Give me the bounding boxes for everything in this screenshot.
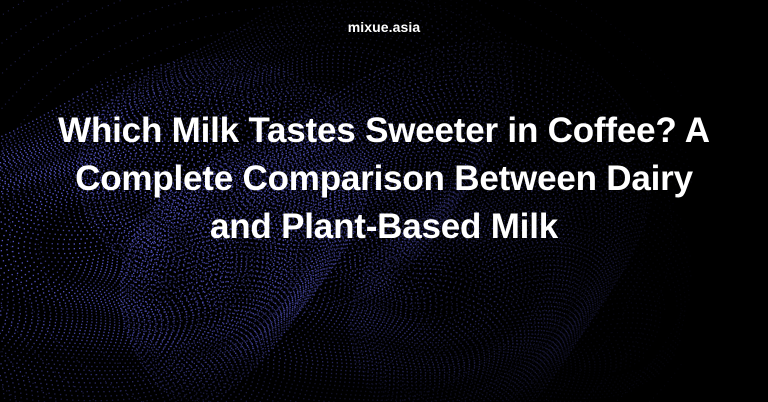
page-title: Which Milk Tastes Sweeter in Coffee? A C…	[34, 107, 734, 251]
page-title-line-1: Which Milk Tastes Sweeter in Coffee? A	[34, 107, 734, 155]
site-name: mixue.asia	[348, 19, 421, 35]
page-title-line-2: Complete Comparison Between Dairy	[34, 155, 734, 203]
hero-content: mixue.asia Which Milk Tastes Sweeter in …	[0, 0, 768, 402]
hero-banner: mixue.asia Which Milk Tastes Sweeter in …	[0, 0, 768, 402]
page-title-line-3: and Plant-Based Milk	[34, 203, 734, 251]
